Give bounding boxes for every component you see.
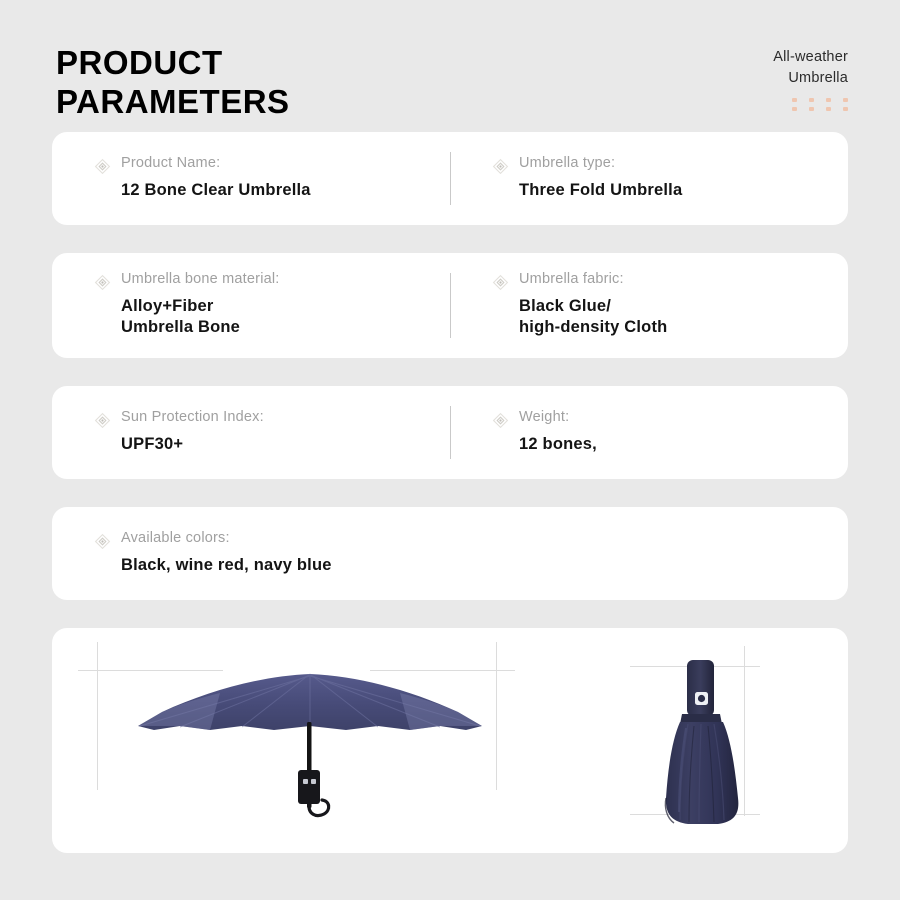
spec-field: Weight: 12 bones, xyxy=(450,386,848,479)
spec-label: Sun Protection Index: xyxy=(121,410,264,426)
dot xyxy=(809,98,814,102)
header-tagline-1: All-weather xyxy=(773,47,848,68)
spec-card-list: Product Name: 12 Bone Clear Umbrella xyxy=(0,132,900,600)
card-divider xyxy=(450,406,451,459)
spec-label: Product Name: xyxy=(121,156,311,172)
spec-value: 12 Bone Clear Umbrella xyxy=(121,180,311,201)
diamond-bullet-icon xyxy=(492,274,509,291)
spec-label: Available colors: xyxy=(121,531,332,547)
spec-value-line: Alloy+Fiber xyxy=(121,296,280,317)
spec-label: Umbrella type: xyxy=(519,156,682,172)
product-image-panel xyxy=(52,628,848,853)
dot xyxy=(826,98,831,102)
spec-label: Umbrella fabric: xyxy=(519,272,667,288)
spec-value-line: Umbrella Bone xyxy=(121,317,280,338)
page-title: PRODUCT PARAMETERS xyxy=(56,44,536,121)
diamond-bullet-icon xyxy=(94,158,111,175)
diamond-bullet-icon xyxy=(94,412,111,429)
spec-value-line: UPF30+ xyxy=(121,434,264,455)
spec-card: Product Name: 12 Bone Clear Umbrella xyxy=(52,132,848,225)
spec-value: Black, wine red, navy blue xyxy=(121,555,332,576)
card-divider xyxy=(450,152,451,205)
spec-card: Sun Protection Index: UPF30+ xyxy=(52,386,848,479)
spec-card: Available colors: Black, wine red, navy … xyxy=(52,507,848,600)
page-title-line-2: PARAMETERS xyxy=(56,83,536,122)
header-tagline-block: All-weather Umbrella xyxy=(773,47,848,111)
spec-field: Umbrella bone material: Alloy+Fiber Umbr… xyxy=(52,253,450,358)
dot xyxy=(809,107,814,111)
card-divider xyxy=(450,273,451,338)
diamond-bullet-icon xyxy=(94,533,111,550)
spec-field: Umbrella type: Three Fold Umbrella xyxy=(450,132,848,225)
spec-value-line: Black, wine red, navy blue xyxy=(121,555,332,576)
page-header: PRODUCT PARAMETERS All-weather Umbrella xyxy=(0,0,900,132)
spec-value-line: Three Fold Umbrella xyxy=(519,180,682,201)
spec-card: Umbrella bone material: Alloy+Fiber Umbr… xyxy=(52,253,848,358)
diamond-bullet-icon xyxy=(94,274,111,291)
decorative-dot-grid xyxy=(773,98,848,111)
dot xyxy=(792,107,797,111)
spec-value: Three Fold Umbrella xyxy=(519,180,682,201)
spec-value: 12 bones, xyxy=(519,434,597,455)
diamond-bullet-icon xyxy=(492,412,509,429)
dot xyxy=(826,107,831,111)
dot-row xyxy=(792,107,848,111)
spec-field: Product Name: 12 Bone Clear Umbrella xyxy=(52,132,450,225)
spec-field: Available colors: Black, wine red, navy … xyxy=(52,507,848,600)
spec-value: UPF30+ xyxy=(121,434,264,455)
dot xyxy=(843,107,848,111)
spec-value: Alloy+Fiber Umbrella Bone xyxy=(121,296,280,339)
dot-row xyxy=(792,98,848,102)
spec-value: Black Glue/ high-density Cloth xyxy=(519,296,667,339)
guide-line-vertical xyxy=(97,642,98,790)
product-parameters-page: PRODUCT PARAMETERS All-weather Umbrella xyxy=(0,0,900,900)
diamond-bullet-icon xyxy=(492,158,509,175)
page-title-line-1: PRODUCT xyxy=(56,44,536,83)
folded-umbrella-photo xyxy=(638,648,768,838)
spec-value-line: high-density Cloth xyxy=(519,317,667,338)
spec-value-line: 12 Bone Clear Umbrella xyxy=(121,180,311,201)
spec-label: Weight: xyxy=(519,410,597,426)
spec-value-line: Black Glue/ xyxy=(519,296,667,317)
spec-value-line: 12 bones, xyxy=(519,434,597,455)
dot xyxy=(792,98,797,102)
spec-label: Umbrella bone material: xyxy=(121,272,280,288)
dot xyxy=(843,98,848,102)
spec-field: Sun Protection Index: UPF30+ xyxy=(52,386,450,479)
spec-field: Umbrella fabric: Black Glue/ high-densit… xyxy=(450,253,848,358)
header-tagline-2: Umbrella xyxy=(773,68,848,89)
open-umbrella-photo xyxy=(110,660,510,835)
